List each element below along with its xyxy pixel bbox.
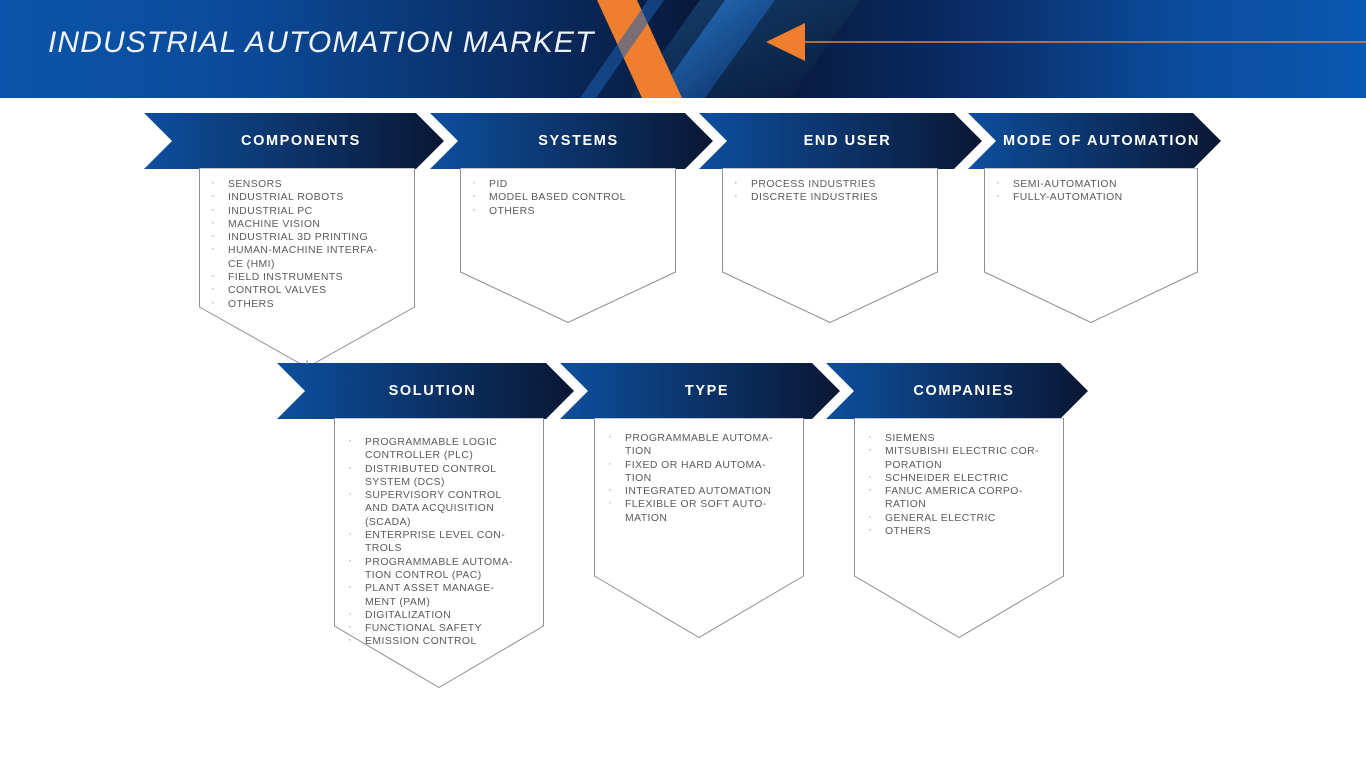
banner-companies[interactable]: COMPANIES: [826, 363, 1088, 419]
list-item: ·PROCESS INDUSTRIES: [732, 178, 932, 191]
list-item-label: INDUSTRIAL ROBOTS: [228, 192, 344, 203]
panel-systems: ·PID·MODEL BASED CONTROL·OTHERS: [460, 168, 676, 323]
list-item-label: FLEXIBLE OR SOFT AUTO-MATION: [625, 499, 767, 523]
list-item: ·FLEXIBLE OR SOFT AUTO-MATION: [606, 498, 801, 525]
list-item-label: OTHERS: [885, 526, 931, 537]
bullet-icon: ·: [211, 177, 215, 190]
list-item-label: DIGITALIZATION: [365, 610, 451, 621]
bullet-icon: ·: [211, 190, 215, 203]
list-item-label: CONTROL VALVES: [228, 285, 327, 296]
list-item: ·DIGITALIZATION: [346, 609, 541, 622]
bullet-icon: ·: [472, 177, 476, 190]
list-item: ·FANUC AMERICA CORPO-RATION: [866, 485, 1061, 512]
bullet-icon: ·: [868, 431, 872, 444]
list-item-label: PROGRAMMABLE LOGICCONTROLLER (PLC): [365, 437, 497, 461]
list-item-label: FULLY-AUTOMATION: [1013, 192, 1123, 203]
list-item-label: HUMAN-MACHINE INTERFA-CE (HMI): [228, 245, 378, 269]
list-item-label: SCHNEIDER ELECTRIC: [885, 473, 1009, 484]
panel-components: ·SENSORS·INDUSTRIAL ROBOTS·INDUSTRIAL PC…: [199, 168, 415, 368]
list-item-label: ENTERPRISE LEVEL CON-TROLS: [365, 530, 505, 554]
list-item: ·EMISSION CONTROL: [346, 635, 541, 648]
list-item: ·OTHERS: [470, 205, 670, 218]
list-item: ·PROGRAMMABLE AUTOMA-TION CONTROL (PAC): [346, 556, 541, 583]
banner-mode-of-automation[interactable]: MODE OF AUTOMATION: [968, 113, 1221, 169]
list-item-label: DISCRETE INDUSTRIES: [751, 192, 878, 203]
list-item-label: OTHERS: [228, 299, 274, 310]
bullet-icon: ·: [211, 204, 215, 217]
list-item-label: PID: [489, 179, 508, 190]
bullet-icon: ·: [348, 621, 352, 634]
list-item: ·INDUSTRIAL PC: [209, 205, 409, 218]
bullet-icon: ·: [472, 190, 476, 203]
list-item: ·OTHERS: [866, 525, 1061, 538]
list-item-label: MACHINE VISION: [228, 219, 320, 230]
bullet-icon: ·: [211, 283, 215, 296]
list-item: ·SUPERVISORY CONTROLAND DATA ACQUISITION…: [346, 489, 541, 529]
list-item: ·INDUSTRIAL ROBOTS: [209, 191, 409, 204]
list-item-label: SENSORS: [228, 179, 282, 190]
bullet-icon: ·: [734, 177, 738, 190]
bullet-icon: ·: [868, 471, 872, 484]
list-item-label: OTHERS: [489, 206, 535, 217]
list-item-label: INTEGRATED AUTOMATION: [625, 486, 771, 497]
list-end-user: ·PROCESS INDUSTRIES·DISCRETE INDUSTRIES: [732, 178, 932, 205]
list-item: ·SENSORS: [209, 178, 409, 191]
list-item: ·PLANT ASSET MANAGE-MENT (PAM): [346, 582, 541, 609]
list-item-label: MITSUBISHI ELECTRIC COR-PORATION: [885, 446, 1039, 470]
banner-components[interactable]: COMPONENTS: [144, 113, 444, 169]
bullet-icon: ·: [608, 484, 612, 497]
list-item-label: PROCESS INDUSTRIES: [751, 179, 876, 190]
list-item-label: SEMI-AUTOMATION: [1013, 179, 1117, 190]
bullet-icon: ·: [868, 524, 872, 537]
list-item: ·SIEMENS: [866, 432, 1061, 445]
list-item: ·SEMI-AUTOMATION: [994, 178, 1194, 191]
bullet-icon: ·: [868, 484, 872, 497]
bullet-icon: ·: [868, 444, 872, 457]
banner-systems[interactable]: SYSTEMS: [430, 113, 713, 169]
list-item: ·FULLY-AUTOMATION: [994, 191, 1194, 204]
list-item: ·MODEL BASED CONTROL: [470, 191, 670, 204]
list-item-label: FIXED OR HARD AUTOMA-TION: [625, 460, 766, 484]
bullet-icon: ·: [608, 497, 612, 510]
bullet-icon: ·: [472, 204, 476, 217]
bullet-icon: ·: [734, 190, 738, 203]
list-item-label: SIEMENS: [885, 433, 935, 444]
list-item-label: PLANT ASSET MANAGE-MENT (PAM): [365, 583, 494, 607]
list-item: ·FIELD INSTRUMENTS: [209, 271, 409, 284]
bullet-icon: ·: [348, 462, 352, 475]
bullet-icon: ·: [348, 581, 352, 594]
list-item-label: FANUC AMERICA CORPO-RATION: [885, 486, 1023, 510]
list-item: ·MACHINE VISION: [209, 218, 409, 231]
list-item: ·PROGRAMMABLE LOGICCONTROLLER (PLC): [346, 436, 541, 463]
list-item-label: FIELD INSTRUMENTS: [228, 272, 343, 283]
list-item: ·DISCRETE INDUSTRIES: [732, 191, 932, 204]
bullet-icon: ·: [348, 608, 352, 621]
list-item: ·INTEGRATED AUTOMATION: [606, 485, 801, 498]
banner-type[interactable]: TYPE: [560, 363, 840, 419]
bullet-icon: ·: [608, 458, 612, 471]
banner-solution[interactable]: SOLUTION: [277, 363, 574, 419]
bullet-icon: ·: [996, 190, 1000, 203]
bullet-icon: ·: [348, 488, 352, 501]
bullet-icon: ·: [608, 431, 612, 444]
banner-end-user[interactable]: END USER: [699, 113, 982, 169]
list-item: ·OTHERS: [209, 298, 409, 311]
list-item-label: FUNCTIONAL SAFETY: [365, 623, 482, 634]
list-item: ·CONTROL VALVES: [209, 284, 409, 297]
list-item: ·MITSUBISHI ELECTRIC COR-PORATION: [866, 445, 1061, 472]
list-item: ·FIXED OR HARD AUTOMA-TION: [606, 459, 801, 486]
list-item: ·PROGRAMMABLE AUTOMA-TION: [606, 432, 801, 459]
bullet-icon: ·: [868, 511, 872, 524]
list-item: ·SCHNEIDER ELECTRIC: [866, 472, 1061, 485]
list-item: ·PID: [470, 178, 670, 191]
bullet-icon: ·: [348, 435, 352, 448]
list-item-label: DISTRIBUTED CONTROLSYSTEM (DCS): [365, 464, 497, 488]
bullet-icon: ·: [211, 270, 215, 283]
list-systems: ·PID·MODEL BASED CONTROL·OTHERS: [470, 178, 670, 218]
bullet-icon: ·: [211, 217, 215, 230]
list-item: ·DISTRIBUTED CONTROLSYSTEM (DCS): [346, 463, 541, 490]
bullet-icon: ·: [348, 555, 352, 568]
panel-end-user: ·PROCESS INDUSTRIES·DISCRETE INDUSTRIES: [722, 168, 938, 323]
connector-line: [300, 360, 316, 370]
bullet-icon: ·: [348, 528, 352, 541]
list-item-label: INDUSTRIAL PC: [228, 206, 313, 217]
list-components: ·SENSORS·INDUSTRIAL ROBOTS·INDUSTRIAL PC…: [209, 178, 409, 311]
list-item-label: SUPERVISORY CONTROLAND DATA ACQUISITION(…: [365, 490, 502, 528]
list-item: ·INDUSTRIAL 3D PRINTING: [209, 231, 409, 244]
bullet-icon: ·: [211, 243, 215, 256]
page-title: INDUSTRIAL AUTOMATION MARKET: [48, 26, 594, 60]
list-item-label: EMISSION CONTROL: [365, 636, 477, 647]
panel-type: ·PROGRAMMABLE AUTOMA-TION·FIXED OR HARD …: [594, 418, 804, 638]
list-item: ·FUNCTIONAL SAFETY: [346, 622, 541, 635]
slide-canvas: INDUSTRIAL AUTOMATION MARKET COMPONENTS …: [0, 0, 1366, 762]
list-item: ·HUMAN-MACHINE INTERFA-CE (HMI): [209, 244, 409, 271]
list-solution: ·PROGRAMMABLE LOGICCONTROLLER (PLC)·DIST…: [346, 436, 541, 649]
bullet-icon: ·: [211, 297, 215, 310]
list-item-label: GENERAL ELECTRIC: [885, 513, 996, 524]
list-item: ·GENERAL ELECTRIC: [866, 512, 1061, 525]
list-type: ·PROGRAMMABLE AUTOMA-TION·FIXED OR HARD …: [606, 432, 801, 525]
list-companies: ·SIEMENS·MITSUBISHI ELECTRIC COR-PORATIO…: [866, 432, 1061, 538]
list-item-label: PROGRAMMABLE AUTOMA-TION: [625, 433, 773, 457]
panel-companies: ·SIEMENS·MITSUBISHI ELECTRIC COR-PORATIO…: [854, 418, 1064, 638]
slide-header: INDUSTRIAL AUTOMATION MARKET: [0, 0, 1366, 98]
bullet-icon: ·: [348, 634, 352, 647]
panel-mode-of-automation: ·SEMI-AUTOMATION·FULLY-AUTOMATION: [984, 168, 1198, 323]
list-item-label: MODEL BASED CONTROL: [489, 192, 626, 203]
list-mode-of-automation: ·SEMI-AUTOMATION·FULLY-AUTOMATION: [994, 178, 1194, 205]
panel-solution: ·PROGRAMMABLE LOGICCONTROLLER (PLC)·DIST…: [334, 418, 544, 688]
list-item-label: PROGRAMMABLE AUTOMA-TION CONTROL (PAC): [365, 557, 513, 581]
list-item-label: INDUSTRIAL 3D PRINTING: [228, 232, 368, 243]
list-item: ·ENTERPRISE LEVEL CON-TROLS: [346, 529, 541, 556]
bullet-icon: ·: [211, 230, 215, 243]
bullet-icon: ·: [996, 177, 1000, 190]
